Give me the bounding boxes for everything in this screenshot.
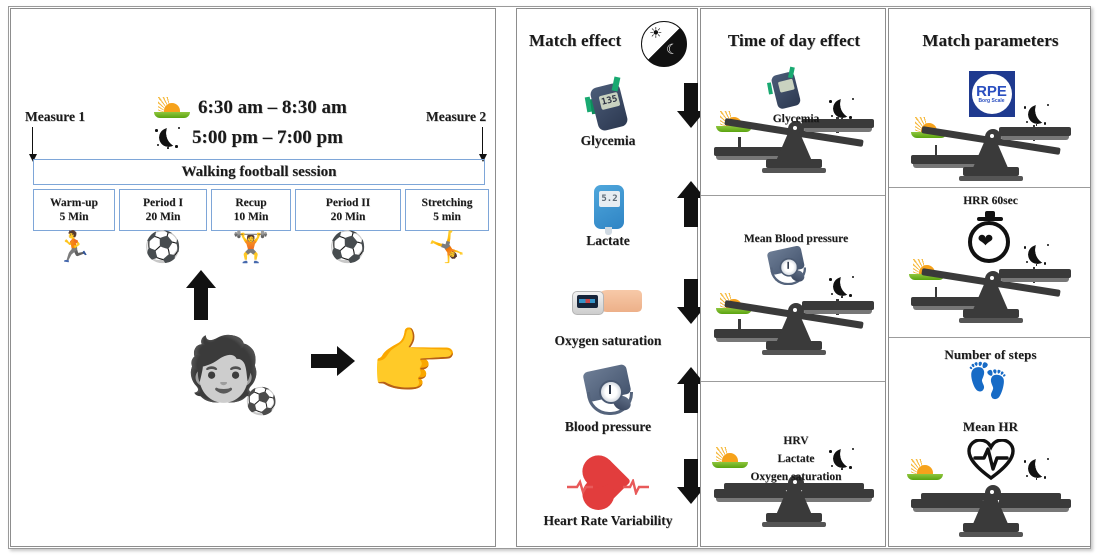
tod-label: Oxygen saturation	[732, 471, 860, 483]
moon-glyph-icon: ☾	[666, 44, 679, 58]
balance-scale	[710, 253, 878, 357]
measure-1-label: Measure 1	[25, 109, 85, 125]
mean-hr-label: Mean HR	[901, 419, 1081, 435]
panel-divider	[889, 337, 1090, 338]
match-parameters-panel: Match parameters RPE Borg Scale	[888, 8, 1091, 547]
match-effect-label: Oxygen saturation	[517, 333, 699, 349]
phase-recup: Recup 10 Min	[211, 189, 291, 231]
day-night-icon: ☀ ☾	[641, 21, 687, 67]
phase-warm-up: Warm-up 5 Min	[33, 189, 115, 231]
footprints-icon: 👣	[967, 365, 1009, 399]
protocol-panel: Measure 1 Measure 2 6:30 am – 8:30 am 5:…	[10, 8, 496, 547]
param-label: HRR 60sec	[941, 195, 1041, 207]
moon-icon	[1023, 457, 1053, 481]
sun-icon	[712, 447, 748, 469]
panel-divider	[701, 195, 885, 196]
heart-ecg-icon	[517, 457, 699, 513]
sun-glyph-icon: ☀	[649, 27, 662, 42]
tod-cell-mean-blood-pressure: Mean Blood pressure	[701, 237, 887, 357]
session-title: Walking football session	[33, 159, 485, 185]
match-effect-item-oxygen-saturation: Oxygen saturation	[517, 277, 699, 349]
tod-label: Mean Blood pressure	[726, 233, 866, 245]
phase-duration: 20 Min	[146, 210, 181, 224]
match-effect-title: Match effect	[529, 31, 621, 51]
param-cell-rpe: RPE Borg Scale	[889, 65, 1092, 181]
phase-duration: 5 min	[433, 210, 461, 224]
match-effect-label: Heart Rate Variability	[517, 513, 699, 529]
lactometer-reading: 5.2	[599, 191, 620, 207]
tod-cell-glycemia: Glycemia	[701, 71, 887, 183]
resting-player-icon: 🏋	[211, 233, 291, 263]
phase-duration: 10 Min	[234, 210, 269, 224]
moon-icon	[1023, 103, 1053, 127]
panel-divider	[701, 381, 885, 382]
sun-icon	[154, 97, 190, 119]
phase-name: Period I	[143, 196, 183, 210]
running-icon: 🏃	[33, 233, 115, 263]
match-effect-panel: Match effect ☀ ☾ 135 Glycemia	[516, 8, 698, 547]
tod-label: Glycemia	[750, 113, 842, 125]
football-player-icon: ⚽	[295, 233, 401, 263]
evening-time-row: 5:00 pm – 7:00 pm	[154, 123, 414, 153]
moon-icon	[828, 275, 858, 299]
moon-icon	[1023, 243, 1053, 267]
phase-stretching: Stretching 5 min	[405, 189, 489, 231]
sphygmomanometer-icon	[517, 363, 699, 419]
phase-duration: 5 Min	[59, 210, 88, 224]
match-parameters-title: Match parameters	[889, 31, 1092, 51]
morning-time-row: 6:30 am – 8:30 am	[154, 93, 414, 123]
match-effect-item-hrv: Heart Rate Variability	[517, 457, 699, 529]
param-cell-steps-mean-hr: Number of steps 👣 Mean HR	[889, 347, 1092, 547]
phase-period-1: Period I 20 Min	[119, 189, 207, 231]
balance-scale	[907, 79, 1075, 183]
param-cell-hrr: HRR 60sec ❤	[889, 197, 1092, 327]
graphical-abstract: Measure 1 Measure 2 6:30 am – 8:30 am 5:…	[0, 0, 1101, 560]
session-times: 6:30 am – 8:30 am 5:00 pm – 7:00 pm	[154, 93, 414, 153]
sun-icon	[907, 459, 943, 481]
measure-2-arrow-icon	[482, 127, 483, 155]
phase-duration: 20 Min	[331, 210, 366, 224]
tod-label: HRV	[768, 435, 824, 447]
pulse-oximeter-icon	[517, 277, 699, 333]
phase-name: Recup	[235, 196, 266, 210]
time-of-day-effect-panel: Time of day effect	[700, 8, 886, 547]
time-of-day-effect-title: Time of day effect	[701, 31, 887, 51]
match-effect-item-glycemia: 135 Glycemia	[517, 77, 699, 149]
session-phases: Warm-up 5 Min Period I 20 Min Recup 10 M…	[33, 189, 485, 231]
phase-name: Warm-up	[50, 196, 98, 210]
tod-label: Lactate	[764, 453, 828, 465]
moon-icon	[154, 126, 184, 150]
match-effect-item-lactate: 5.2 Lactate	[517, 177, 699, 249]
tod-cell-hrv-lactate-spo2: HRV Lactate Oxygen saturation	[701, 415, 887, 535]
measure-1-arrow-icon	[32, 127, 33, 155]
balance-scale: HRV Lactate Oxygen saturation	[710, 425, 878, 529]
phase-name: Stretching	[422, 196, 473, 210]
panel-divider	[889, 187, 1090, 188]
evening-time-text: 5:00 pm – 7:00 pm	[192, 127, 343, 149]
glucometer-icon: 135	[517, 77, 699, 133]
phase-period-2: Period II 20 Min	[295, 189, 401, 231]
measure-2-label: Measure 2	[426, 109, 486, 125]
moon-icon	[828, 447, 858, 471]
soccer-ball-icon: ⚽	[245, 389, 277, 415]
morning-time-text: 6:30 am – 8:30 am	[198, 97, 347, 119]
balance-scale	[907, 221, 1075, 325]
match-effect-item-blood-pressure: Blood pressure	[517, 363, 699, 435]
match-effect-label: Lactate	[517, 233, 699, 249]
pointing-hand-icon: 👉	[369, 327, 459, 399]
balance-scale: Glycemia	[710, 71, 878, 175]
match-effect-label: Blood pressure	[517, 419, 699, 435]
match-effect-label: Glycemia	[517, 133, 699, 149]
lactometer-icon: 5.2	[517, 177, 699, 233]
number-of-steps-label: Number of steps	[901, 347, 1081, 363]
phase-name: Period II	[326, 196, 370, 210]
balance-scale	[907, 435, 1075, 539]
stretching-icon: 🤸	[405, 233, 489, 263]
football-player-icon: ⚽	[119, 233, 207, 263]
phase-pictograms: 🏃 ⚽ 🏋 ⚽ 🤸	[33, 233, 485, 263]
